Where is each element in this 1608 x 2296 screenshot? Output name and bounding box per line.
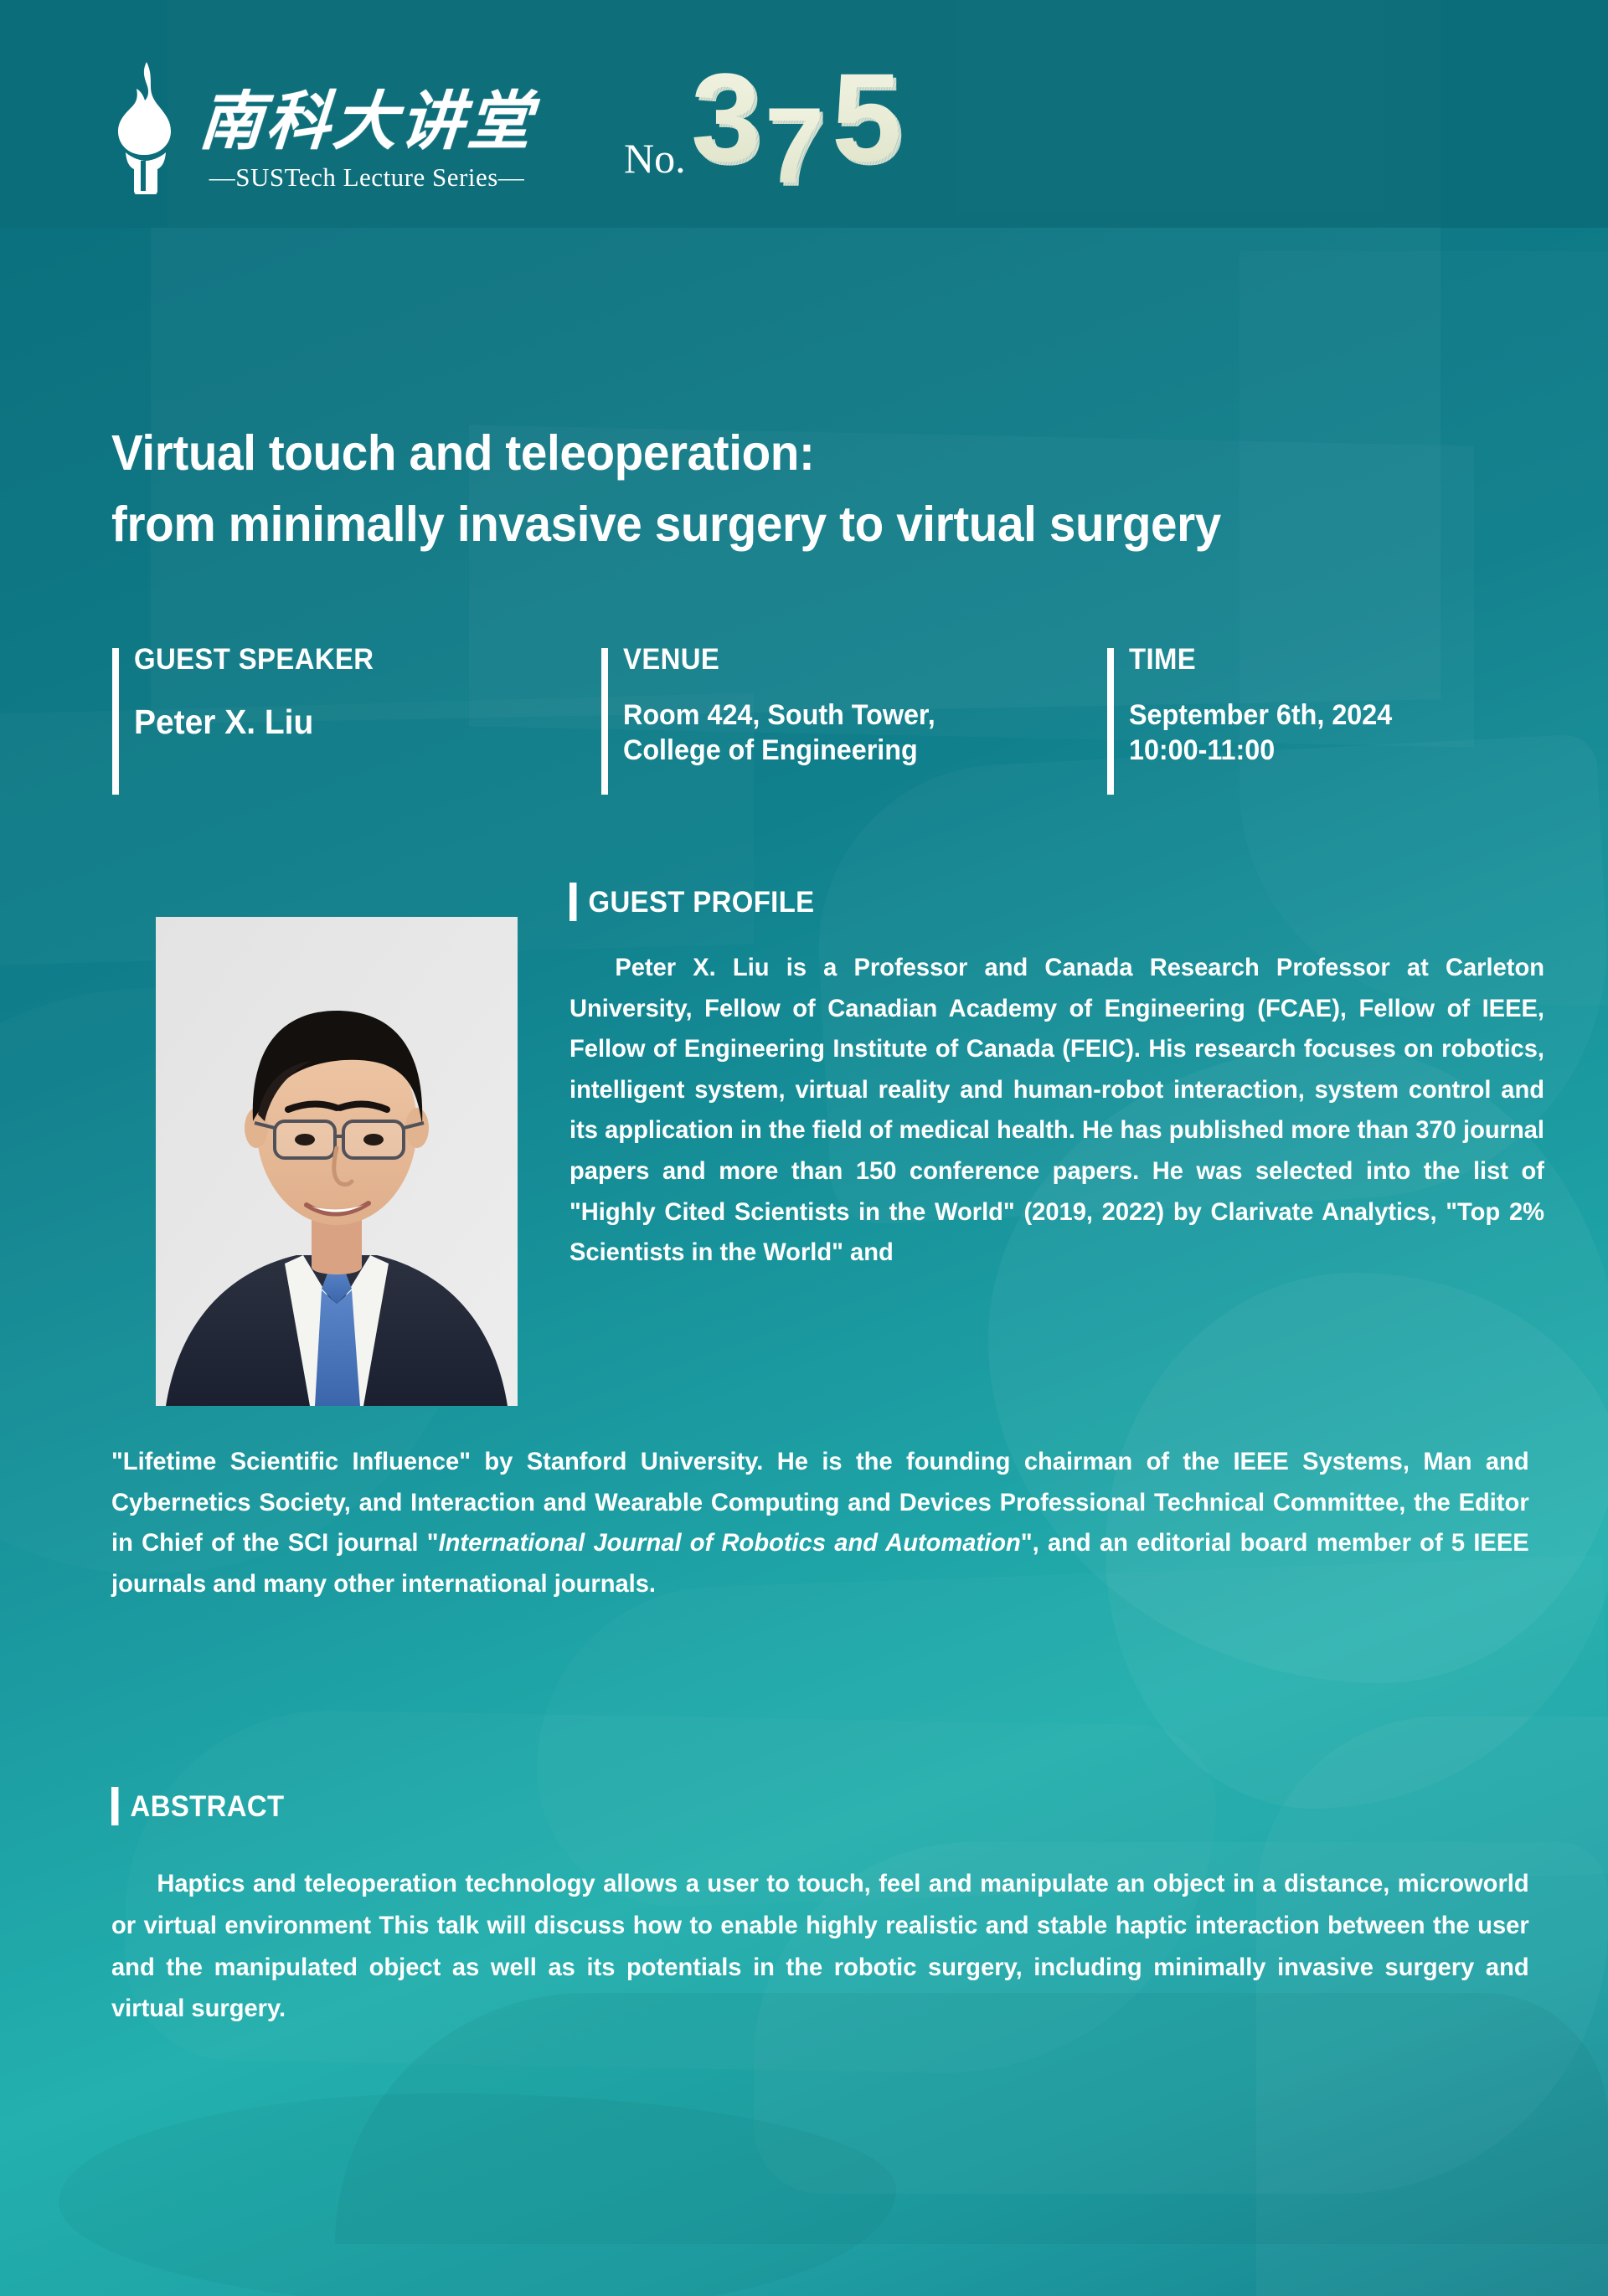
svg-text:3: 3 xyxy=(691,47,760,188)
issue-badge: No. 3 3 xyxy=(624,65,942,191)
issue-number: 3 3 7 7 5 5 xyxy=(691,50,942,191)
guest-profile-text-continued: "Lifetime Scientific Influence" by Stanf… xyxy=(111,1442,1529,1604)
meta-guest-speaker: GUEST SPEAKER Peter X. Liu xyxy=(112,645,578,743)
brand-name-cn: 南科大讲堂 xyxy=(197,90,536,154)
guest-speaker-value: Peter X. Liu xyxy=(134,703,556,743)
lecture-poster: 南科大讲堂 —SUSTech Lecture Series— No. xyxy=(0,0,1608,2296)
torch-flame-icon xyxy=(107,60,184,194)
abstract-heading: ABSTRACT xyxy=(111,1792,285,1821)
meta-time: TIME September 6th, 2024 10:00-11:00 xyxy=(1107,645,1598,768)
abstract-text: Haptics and teleoperation technology all… xyxy=(111,1863,1529,2030)
svg-text:7: 7 xyxy=(765,86,824,191)
abstract-paragraph: Haptics and teleoperation technology all… xyxy=(111,1870,1529,2022)
brand-logo[interactable]: 南科大讲堂 —SUSTech Lecture Series— xyxy=(107,60,534,194)
issue-label: No. xyxy=(624,137,686,179)
page-title: Virtual touch and teleoperation: from mi… xyxy=(111,427,1510,570)
time-label: TIME xyxy=(1129,645,1569,674)
guest-profile-paragraph: Peter X. Liu is a Professor and Canada R… xyxy=(569,954,1544,1266)
meta-venue: VENUE Room 424, South Tower, College of … xyxy=(601,645,1126,768)
journal-title: International Journal of Robotics and Au… xyxy=(439,1529,1021,1557)
guest-profile-text: Peter X. Liu is a Professor and Canada R… xyxy=(569,948,1544,1274)
svg-text:5: 5 xyxy=(832,47,901,188)
event-meta: GUEST SPEAKER Peter X. Liu VENUE Room 42… xyxy=(112,645,1578,812)
guest-speaker-label: GUEST SPEAKER xyxy=(134,645,551,674)
time-value: September 6th, 2024 10:00-11:00 xyxy=(1129,698,1574,768)
venue-value: Room 424, South Tower, College of Engine… xyxy=(623,698,1100,768)
title-line-2: from minimally invasive surgery to virtu… xyxy=(111,498,1510,552)
guest-profile-heading: GUEST PROFILE xyxy=(569,888,815,917)
header: 南科大讲堂 —SUSTech Lecture Series— No. xyxy=(0,0,1608,228)
brand-name-en: —SUSTech Lecture Series— xyxy=(209,162,525,193)
speaker-photo xyxy=(156,917,518,1406)
title-line-1: Virtual touch and teleoperation: xyxy=(111,427,1510,481)
venue-label: VENUE xyxy=(623,645,1095,674)
